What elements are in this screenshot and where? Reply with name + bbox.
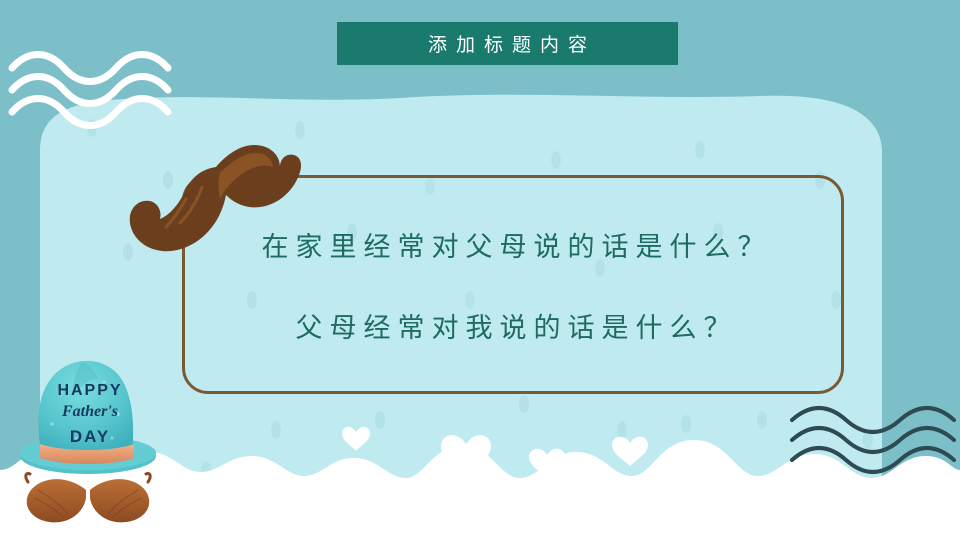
mustache-lower-icon xyxy=(26,473,150,522)
title-banner: 添加标题内容 xyxy=(337,22,678,65)
slide-canvas: 在家里经常对父母说的话是什么？ 父母经常对我说的话是什么？ xyxy=(0,0,960,540)
mustache-icon xyxy=(128,143,303,258)
fathers-day-hat-icon xyxy=(8,352,168,540)
page-title: 添加标题内容 xyxy=(419,30,596,57)
